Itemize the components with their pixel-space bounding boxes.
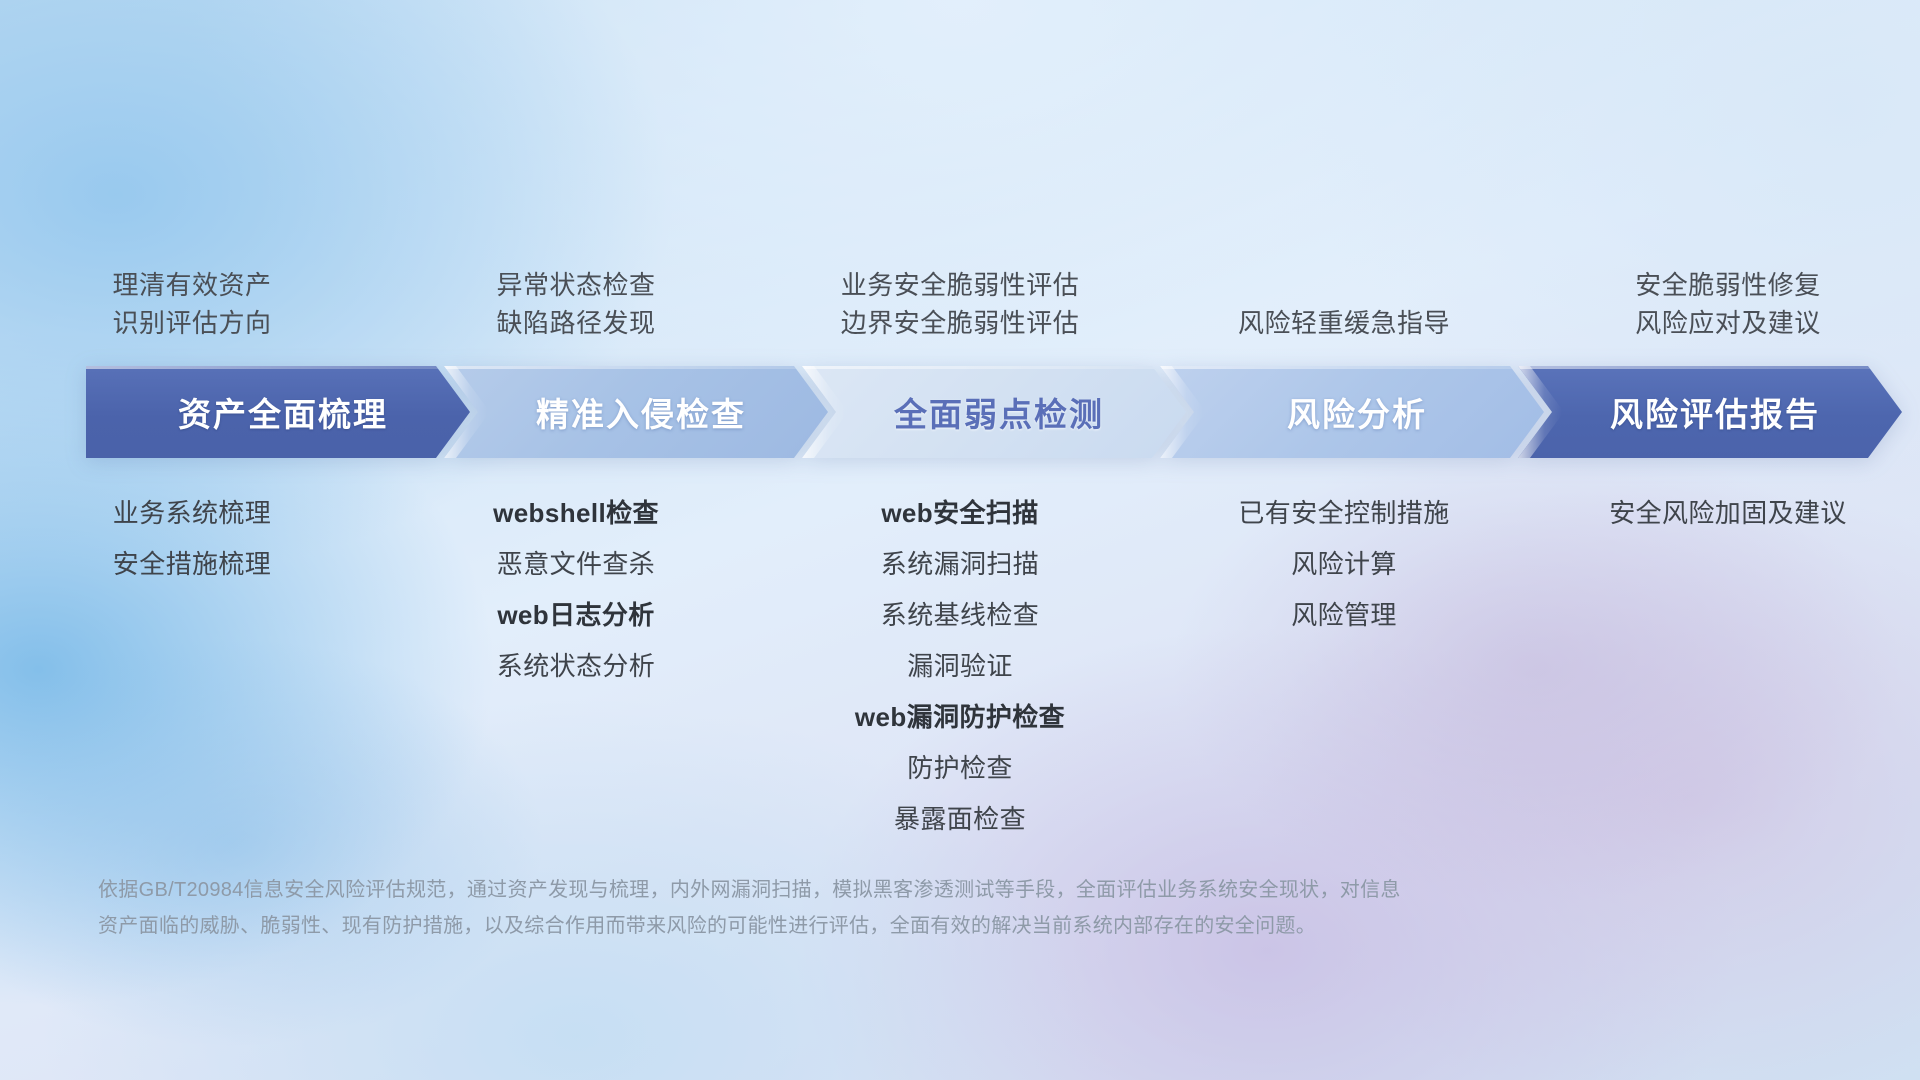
detail-list-step-1: 业务系统梳理 安全措施梳理: [0, 500, 384, 577]
process-step-asset-inventory[interactable]: 资产全面梳理: [86, 366, 470, 458]
chevron-highlight: [1160, 366, 1544, 369]
list-item: 系统漏洞扫描: [881, 551, 1039, 577]
footer-line-1: 依据GB/T20984信息安全风险评估规范，通过资产发现与梳理，内外网漏洞扫描，…: [98, 872, 1658, 908]
process-step-label: 风险分析: [1277, 388, 1427, 436]
list-item: 业务系统梳理: [113, 500, 271, 526]
process-step-label: 风险评估报告: [1600, 388, 1820, 436]
top-caption: 边界安全脆弱性评估: [841, 310, 1080, 336]
top-captions-step-3: 业务安全脆弱性评估 边界安全脆弱性评估: [768, 230, 1152, 340]
detail-list-step-3: web安全扫描 系统漏洞扫描 系统基线检查 漏洞验证 web漏洞防护检查 防护检…: [768, 500, 1152, 832]
list-item: 防护检查: [907, 755, 1013, 781]
top-captions-step-5: 安全脆弱性修复 风险应对及建议: [1536, 230, 1920, 340]
top-caption: 识别评估方向: [112, 310, 271, 336]
detail-list-step-5: 安全风险加固及建议: [1536, 500, 1920, 526]
list-item: 系统状态分析: [497, 653, 655, 679]
process-step-label: 资产全面梳理: [168, 388, 388, 436]
top-caption: 理清有效资产: [112, 272, 271, 298]
chevron-highlight: [802, 366, 1186, 369]
process-step-intrusion-check[interactable]: 精准入侵检查: [444, 366, 828, 458]
detail-list-step-2: webshell检查 恶意文件查杀 web日志分析 系统状态分析: [384, 500, 768, 679]
list-item: 已有安全控制措施: [1238, 500, 1449, 526]
process-step-risk-analysis[interactable]: 风险分析: [1160, 366, 1544, 458]
process-step-bar: 资产全面梳理 精准入侵检查 全面弱点检测 风险分析 风险评估报告: [86, 366, 1876, 458]
list-item: 安全风险加固及建议: [1609, 500, 1847, 526]
chevron-highlight: [86, 366, 470, 369]
chevron-highlight: [1518, 366, 1902, 369]
list-item: 恶意文件查杀: [497, 551, 655, 577]
list-item: 系统基线检查: [881, 602, 1039, 628]
list-item: web日志分析: [497, 602, 654, 628]
list-item: 漏洞验证: [907, 653, 1013, 679]
process-diagram: 理清有效资产 识别评估方向 异常状态检查 缺陷路径发现 业务安全脆弱性评估 边界…: [0, 0, 1920, 1080]
list-item: 风险管理: [1291, 602, 1397, 628]
detail-list-step-4: 已有安全控制措施 风险计算 风险管理: [1152, 500, 1536, 628]
list-item: 暴露面检查: [894, 806, 1026, 832]
list-item: webshell检查: [493, 500, 659, 526]
footer-note: 依据GB/T20984信息安全风险评估规范，通过资产发现与梳理，内外网漏洞扫描，…: [98, 872, 1658, 944]
top-captions-step-4: 风险轻重缓急指导: [1152, 230, 1536, 340]
chevron-highlight: [444, 366, 828, 369]
top-caption: 安全脆弱性修复: [1635, 272, 1821, 298]
list-item: 安全措施梳理: [113, 551, 271, 577]
list-item: web漏洞防护检查: [855, 704, 1065, 730]
list-item: web安全扫描: [881, 500, 1038, 526]
top-caption: 缺陷路径发现: [496, 310, 655, 336]
bottom-detail-row: 业务系统梳理 安全措施梳理 webshell检查 恶意文件查杀 web日志分析 …: [0, 500, 1920, 832]
process-step-label: 精准入侵检查: [526, 388, 746, 436]
top-caption-row: 理清有效资产 识别评估方向 异常状态检查 缺陷路径发现 业务安全脆弱性评估 边界…: [0, 230, 1920, 340]
top-caption: 风险应对及建议: [1635, 310, 1821, 336]
top-caption: 业务安全脆弱性评估: [841, 272, 1080, 298]
top-caption: 风险轻重缓急指导: [1238, 310, 1450, 336]
process-step-risk-report[interactable]: 风险评估报告: [1518, 366, 1902, 458]
process-step-weakness-detection[interactable]: 全面弱点检测: [802, 366, 1186, 458]
process-step-label: 全面弱点检测: [884, 388, 1104, 436]
top-captions-step-2: 异常状态检查 缺陷路径发现: [384, 230, 768, 340]
list-item: 风险计算: [1291, 551, 1397, 577]
footer-line-2: 资产面临的威胁、脆弱性、现有防护措施，以及综合作用而带来风险的可能性进行评估，全…: [98, 908, 1658, 944]
top-caption: 异常状态检查: [496, 272, 655, 298]
top-captions-step-1: 理清有效资产 识别评估方向: [0, 230, 384, 340]
